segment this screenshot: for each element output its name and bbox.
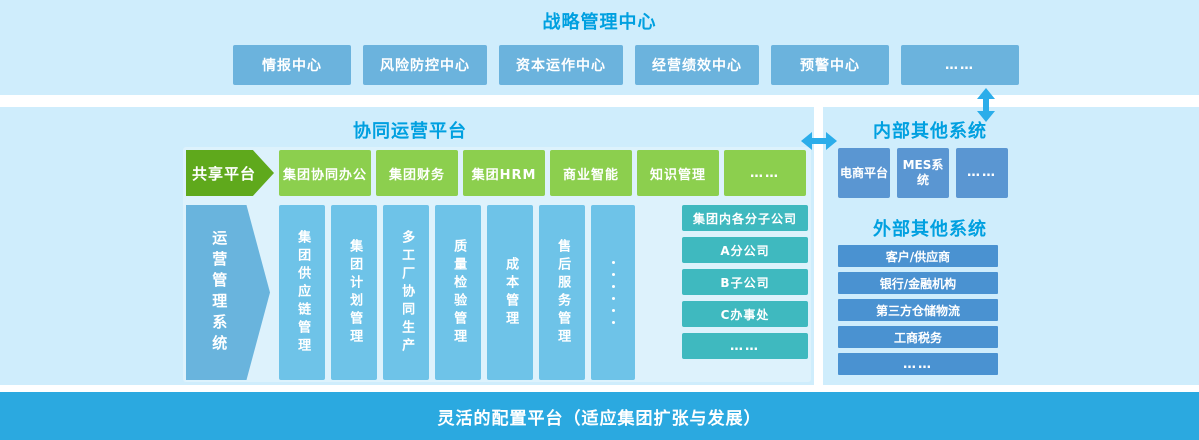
external-systems-list: 客户/供应商银行/金融机构第三方仓储物流工商税务…… (838, 245, 998, 375)
external-system-label: 客户/供应商 (886, 248, 950, 265)
strategy-box-4[interactable]: 预警中心 (771, 45, 889, 85)
dot (612, 309, 615, 312)
strategy-box-label: 资本运作中心 (516, 55, 606, 75)
external-system-box-0[interactable]: 客户/供应商 (838, 245, 998, 267)
internal-system-label: 电商平台 (840, 166, 888, 181)
shared-platform-box-3[interactable]: 商业智能 (550, 150, 632, 196)
subsidiary-label: C办事处 (721, 306, 770, 323)
ops-column-row: 集团供应链管理集团计划管理多工厂协同生产质量检验管理成本管理售后服务管理 (279, 205, 635, 380)
shared-platform-box-5[interactable]: …… (724, 150, 806, 196)
external-system-box-4[interactable]: …… (838, 353, 998, 375)
shared-platform-box-label: …… (750, 166, 780, 181)
internal-system-box-2[interactable]: …… (956, 148, 1008, 198)
ops-column-label: 质量检验管理 (451, 239, 465, 347)
ops-column-5[interactable]: 售后服务管理 (539, 205, 585, 380)
subsidiary-label: …… (730, 339, 760, 354)
shared-platform-box-label: 集团HRM (472, 164, 537, 183)
external-system-box-1[interactable]: 银行/金融机构 (838, 272, 998, 294)
external-system-label: …… (903, 357, 933, 372)
strategy-box-1[interactable]: 风险防控中心 (363, 45, 487, 85)
subsidiary-label: B子公司 (720, 274, 769, 291)
strategy-box-row: 情报中心风险防控中心资本运作中心经营绩效中心预警中心…… (233, 45, 1019, 85)
ops-system-label: 运营管理系统 (211, 230, 228, 356)
ops-column-3[interactable]: 质量检验管理 (435, 205, 481, 380)
subsidiary-label: A分公司 (720, 242, 769, 259)
double-arrow-horizontal-icon (801, 128, 837, 154)
external-system-label: 第三方仓储物流 (876, 302, 960, 319)
external-systems-title: 外部其他系统 (840, 215, 1020, 241)
internal-systems-row: 电商平台MES系统…… (838, 148, 1008, 198)
ops-column-dots-icon (612, 261, 615, 324)
strategy-box-label: 情报中心 (262, 55, 322, 75)
shared-platform-box-0[interactable]: 集团协同办公 (279, 150, 371, 196)
dot (612, 285, 615, 288)
ops-column-label: 多工厂协同生产 (399, 230, 413, 356)
ops-column-label: 售后服务管理 (555, 239, 569, 347)
internal-system-label: MES系统 (897, 158, 949, 188)
dot (612, 321, 615, 324)
internal-system-label: …… (967, 165, 997, 181)
shared-platform-box-label: 集团财务 (389, 164, 445, 183)
strategy-box-2[interactable]: 资本运作中心 (499, 45, 623, 85)
subsidiary-box-2[interactable]: B子公司 (682, 269, 808, 295)
strategy-box-label: 预警中心 (800, 55, 860, 75)
strategy-box-label: …… (945, 58, 975, 73)
dot (612, 297, 615, 300)
ops-column-4[interactable]: 成本管理 (487, 205, 533, 380)
ops-column-1[interactable]: 集团计划管理 (331, 205, 377, 380)
strategy-box-0[interactable]: 情报中心 (233, 45, 351, 85)
dot (612, 261, 615, 264)
external-system-box-2[interactable]: 第三方仓储物流 (838, 299, 998, 321)
subsidiary-list: 集团内各分子公司A分公司B子公司C办事处…… (682, 205, 808, 359)
shared-platform-box-label: 知识管理 (650, 164, 706, 183)
strategy-box-label: 经营绩效中心 (652, 55, 742, 75)
subsidiary-box-3[interactable]: C办事处 (682, 301, 808, 327)
external-system-box-3[interactable]: 工商税务 (838, 326, 998, 348)
strategy-box-3[interactable]: 经营绩效中心 (635, 45, 759, 85)
double-arrow-vertical-icon (973, 88, 999, 122)
shared-platform-box-4[interactable]: 知识管理 (637, 150, 719, 196)
internal-system-box-1[interactable]: MES系统 (897, 148, 949, 198)
footer-text: 灵活的配置平台（适应集团扩张与发展） (0, 392, 1199, 440)
ops-column-6[interactable] (591, 205, 635, 380)
external-system-label: 银行/金融机构 (880, 275, 956, 292)
ops-column-label: 集团供应链管理 (295, 230, 309, 356)
dot (612, 273, 615, 276)
subsidiary-box-1[interactable]: A分公司 (682, 237, 808, 263)
internal-system-box-0[interactable]: 电商平台 (838, 148, 890, 198)
ops-column-0[interactable]: 集团供应链管理 (279, 205, 325, 380)
strategy-box-label: 风险防控中心 (380, 55, 470, 75)
shared-platform-box-label: 集团协同办公 (283, 164, 367, 183)
shared-platform-row: 共享平台 集团协同办公集团财务集团HRM商业智能知识管理…… (186, 150, 806, 196)
ops-column-label: 成本管理 (503, 257, 517, 329)
coop-platform-title: 协同运营平台 (0, 117, 820, 143)
shared-platform-arrow[interactable]: 共享平台 (186, 150, 274, 196)
shared-platform-box-label: 商业智能 (563, 164, 619, 183)
strategy-box-5[interactable]: …… (901, 45, 1019, 85)
ops-column-2[interactable]: 多工厂协同生产 (383, 205, 429, 380)
subsidiary-box-0[interactable]: 集团内各分子公司 (682, 205, 808, 231)
shared-platform-box-1[interactable]: 集团财务 (376, 150, 458, 196)
shared-platform-label: 共享平台 (192, 163, 256, 184)
strategy-title: 战略管理中心 (0, 8, 1199, 34)
shared-platform-box-2[interactable]: 集团HRM (463, 150, 545, 196)
subsidiary-box-4[interactable]: …… (682, 333, 808, 359)
external-system-label: 工商税务 (894, 329, 942, 346)
subsidiary-label: 集团内各分子公司 (693, 210, 797, 227)
ops-column-label: 集团计划管理 (347, 239, 361, 347)
